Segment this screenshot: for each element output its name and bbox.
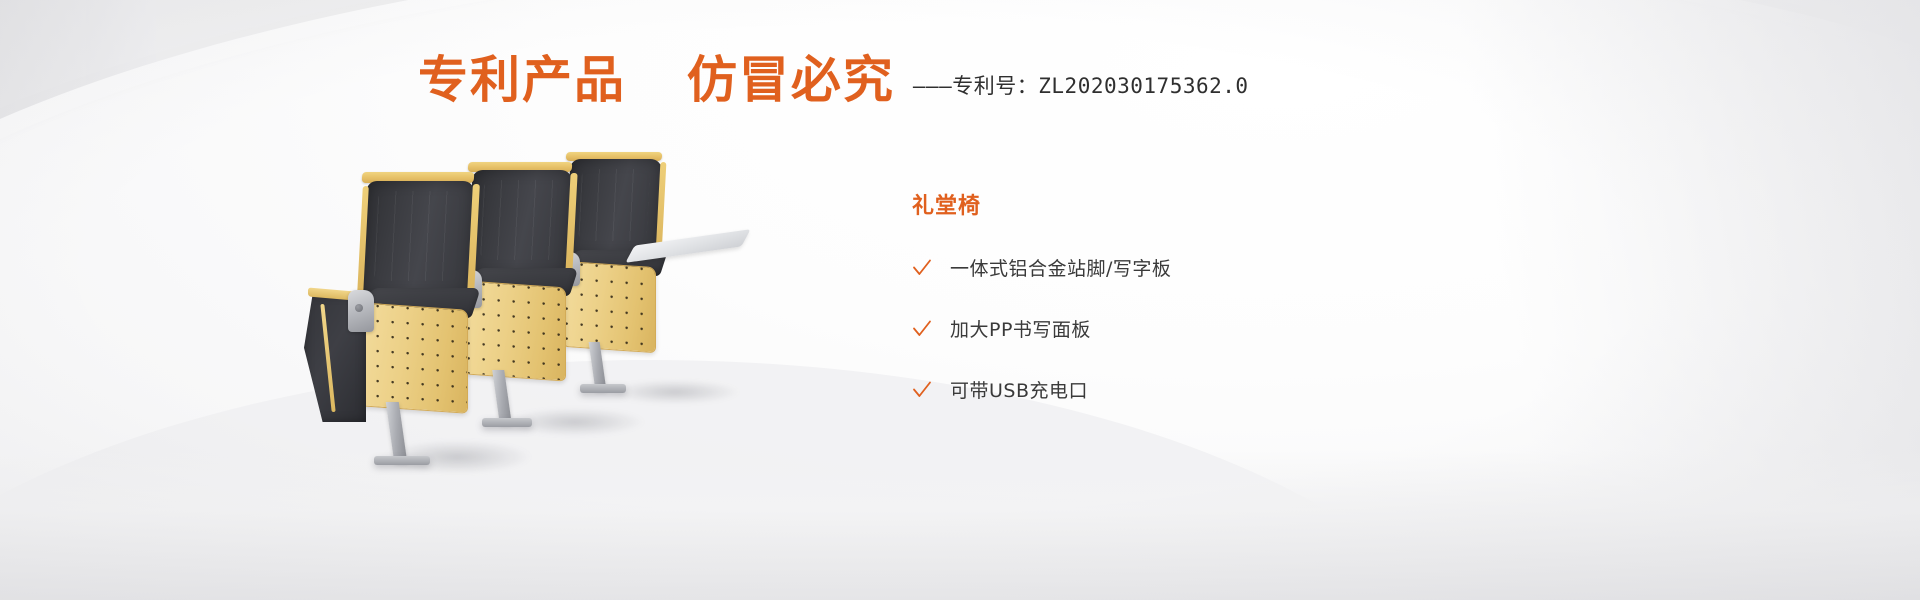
auditorium-chair-1 xyxy=(352,166,572,466)
feature-item-2: 可带USB充电口 xyxy=(912,376,1332,403)
patent-number-text: ———专利号：ZL202030175362.0 xyxy=(913,70,1249,100)
headline-part-1: 专利产品 xyxy=(418,51,626,109)
feature-item-0: 一体式铝合金站脚/写字板 xyxy=(912,254,1332,281)
check-icon xyxy=(912,380,932,400)
product-category-title: 礼堂椅 xyxy=(912,188,1332,220)
product-banner: 专利产品 仿冒必究 ———专利号：ZL202030175362.0 xyxy=(0,0,1920,600)
product-image xyxy=(330,140,760,480)
check-icon xyxy=(912,319,932,339)
feature-item-2-label: 可带USB充电口 xyxy=(950,376,1088,403)
page-title: 专利产品 仿冒必究 xyxy=(418,55,895,105)
feature-item-1-label: 加大PP书写面板 xyxy=(950,315,1091,342)
headline-part-2: 仿冒必究 xyxy=(687,51,895,109)
chair-1-armrest-pivot xyxy=(355,304,363,312)
check-icon xyxy=(912,258,932,278)
background-floor xyxy=(0,450,1920,600)
feature-list-panel: 礼堂椅 一体式铝合金站脚/写字板 加大PP书写面板 可带USB充电口 xyxy=(912,188,1332,403)
chair-1-leg xyxy=(386,402,407,462)
feature-item-1: 加大PP书写面板 xyxy=(912,315,1332,342)
chair-1-foot xyxy=(374,456,430,465)
chair-1-backrest xyxy=(361,181,475,295)
feature-item-0-label: 一体式铝合金站脚/写字板 xyxy=(950,254,1171,281)
chair-1-perforated-back-panel xyxy=(360,302,468,414)
headline-block: 专利产品 仿冒必究 ———专利号：ZL202030175362.0 xyxy=(418,55,1249,105)
